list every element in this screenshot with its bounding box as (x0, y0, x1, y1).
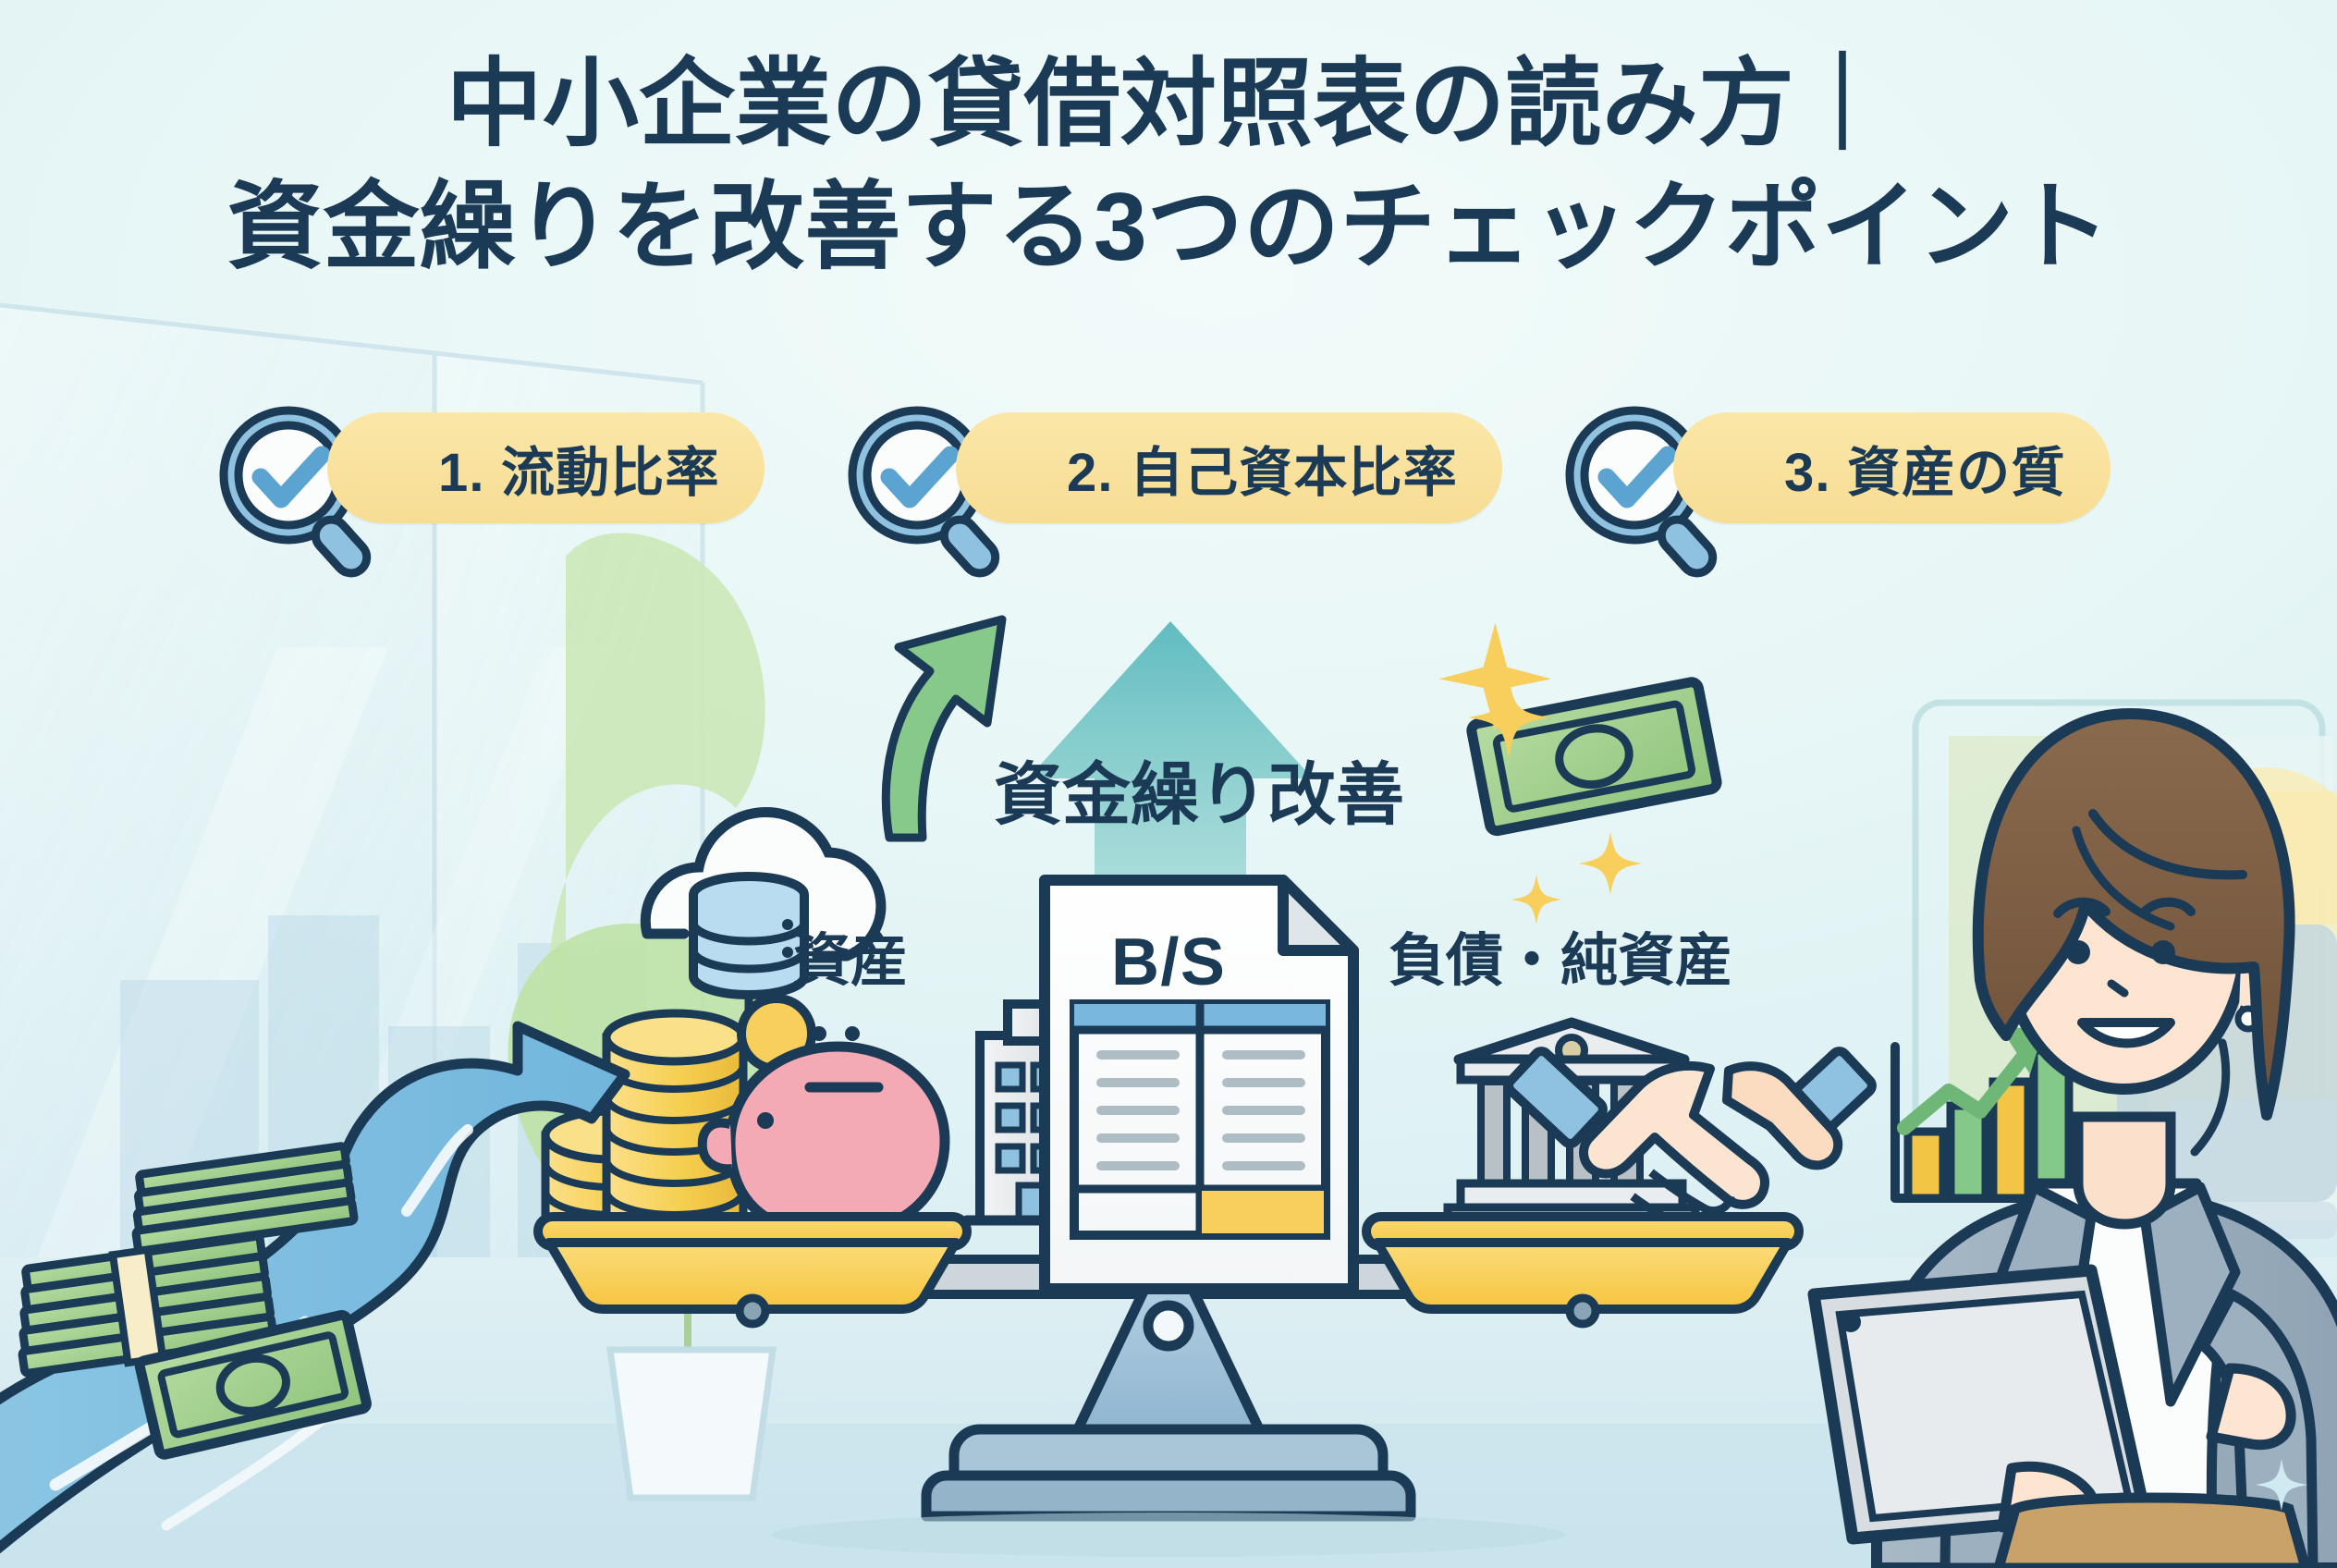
scale-pan-right (1366, 1217, 1799, 1324)
asset-label: 資産 (793, 913, 908, 997)
scale-pan-left (538, 1217, 967, 1324)
trousers (1999, 1498, 2306, 1568)
liability-equity-label: 負債・純資産 (1389, 913, 1732, 997)
banknote-icon (1439, 623, 1719, 832)
infographic-canvas: 中小企業の貸借対照表の読み方｜ 資金繰りを改善する3つのチェックポイント 1. … (0, 0, 2337, 1568)
cashflow-improve-label: 資金繰り改善 (994, 740, 1404, 839)
green-up-arrow-icon (886, 619, 1002, 838)
bs-document-title: B/S (1111, 925, 1226, 1000)
